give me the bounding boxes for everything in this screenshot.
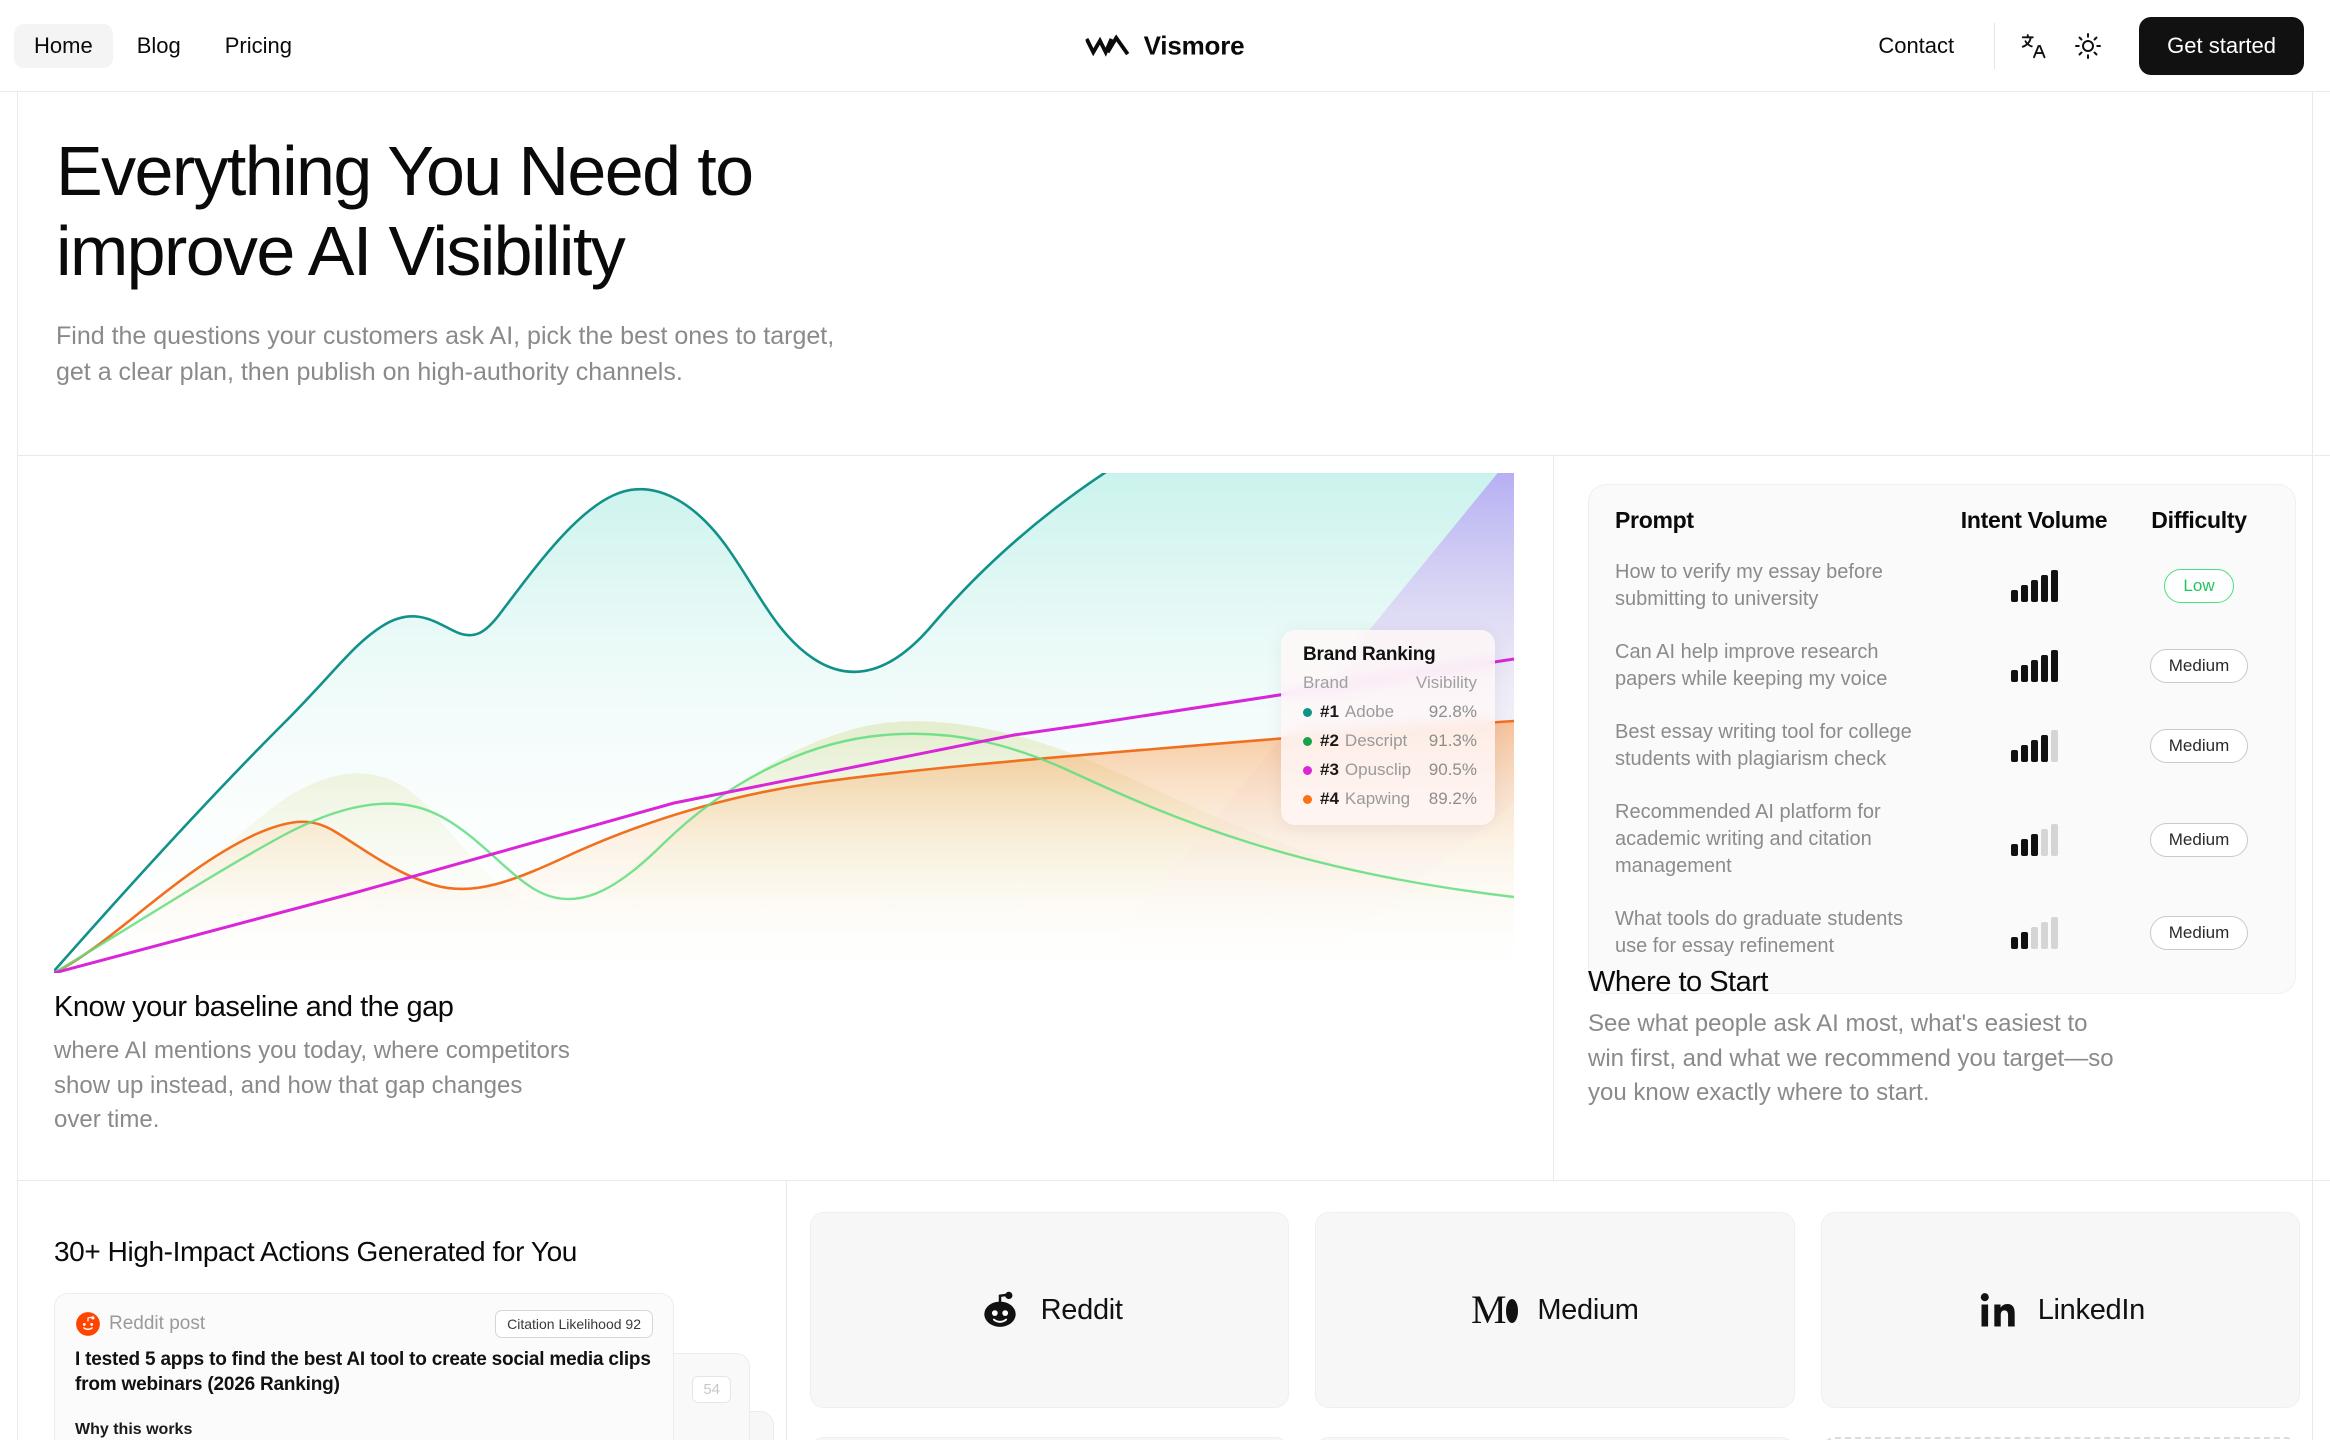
brand-ranking-row: #4 Kapwing 89.2% <box>1303 789 1477 809</box>
brand-column-header: Brand <box>1303 673 1348 693</box>
brand-visibility: 90.5% <box>1429 760 1477 780</box>
intent-volume-bars <box>1939 570 2129 602</box>
prompt-table-header: Prompt Intent Volume Difficulty <box>1615 507 2269 546</box>
reddit-icon <box>977 1287 1023 1333</box>
nav-item-pricing[interactable]: Pricing <box>205 24 312 68</box>
actions-panel: 30+ High-Impact Actions Generated for Yo… <box>18 1181 786 1440</box>
citation-likelihood-badge-behind: 54 <box>692 1376 731 1403</box>
brand-visibility: 91.3% <box>1429 731 1477 751</box>
difficulty-cell: Medium <box>2129 823 2269 857</box>
where-to-start-heading: Where to Start <box>1588 966 2128 999</box>
medium-icon: M <box>1471 1287 1519 1333</box>
contact-link[interactable]: Contact <box>1850 33 1982 59</box>
table-row[interactable]: How to verify my essay before submitting… <box>1615 546 2269 626</box>
brand-rank: #2 <box>1320 731 1339 751</box>
brand-visibility: 92.8% <box>1429 702 1477 722</box>
action-card-source: Reddit post <box>109 1313 205 1335</box>
prompt-text: Can AI help improve research papers whil… <box>1615 639 1939 693</box>
brand-ranking-tooltip: Brand Ranking Brand Visibility #1 Adobe … <box>1281 630 1495 825</box>
prompt-text: Best essay writing tool for college stud… <box>1615 719 1939 773</box>
brand-label: Adobe <box>1345 702 1394 722</box>
action-card-header: Reddit post Citation Likelihood 92 <box>75 1310 653 1338</box>
hero-title-line2: improve AI Visibility <box>56 212 624 290</box>
platform-card-linkedin[interactable]: LinkedIn <box>1821 1212 2300 1408</box>
hero-title-line1: Everything You Need to <box>56 132 752 210</box>
brand-label: Descript <box>1345 731 1407 751</box>
brand-rank: #3 <box>1320 760 1339 780</box>
intent-volume-bars <box>1939 650 2129 682</box>
difficulty-cell: Low <box>2129 569 2269 603</box>
baseline-feature-panel: Brand Ranking Brand Visibility #1 Adobe … <box>18 456 1553 1180</box>
why-this-works-label: Why this works <box>75 1421 192 1439</box>
language-button[interactable] <box>2007 19 2061 73</box>
action-card-post-title: I tested 5 apps to find the best AI tool… <box>75 1348 653 1397</box>
brand-ranking-header: Brand Visibility <box>1303 673 1477 693</box>
brand-ranking-title: Brand Ranking <box>1303 644 1477 666</box>
brand-label: Kapwing <box>1345 789 1410 809</box>
where-to-start-caption: Where to Start See what people ask AI mo… <box>1588 966 2128 1111</box>
header-actions: Contact Get started <box>1850 0 2304 92</box>
platform-card-grid: Reddit M Medium LinkedIn <box>810 1212 2300 1408</box>
table-row[interactable]: Best essay writing tool for college stud… <box>1615 706 2269 786</box>
difficulty-cell: Medium <box>2129 729 2269 763</box>
linkedin-icon <box>1976 1288 2020 1332</box>
status-badge: Medium <box>2150 916 2248 950</box>
primary-nav: Home Blog Pricing <box>14 0 312 92</box>
difficulty-cell: Medium <box>2129 649 2269 683</box>
get-started-button[interactable]: Get started <box>2139 17 2304 75</box>
baseline-body: where AI mentions you today, where compe… <box>54 1034 574 1138</box>
platform-name: Medium <box>1537 1294 1638 1327</box>
brand-logo[interactable]: Vismore <box>1086 31 1245 62</box>
prompt-table-card: Prompt Intent Volume Difficulty How to v… <box>1588 484 2296 994</box>
intent-volume-column-header: Intent Volume <box>1939 507 2129 534</box>
action-card-stack: 54 Reddit post Citation Likelihood 92 I <box>54 1293 754 1440</box>
citation-likelihood-badge: Citation Likelihood 92 <box>495 1310 653 1338</box>
intent-volume-bars <box>1939 917 2129 949</box>
brand-label: Opusclip <box>1345 760 1411 780</box>
status-badge: Medium <box>2150 649 2248 683</box>
status-badge: Low <box>2164 569 2233 603</box>
header-divider <box>1994 23 1995 69</box>
platform-card-reddit[interactable]: Reddit <box>810 1212 1289 1408</box>
site-header: Home Blog Pricing Vismore Contact <box>0 0 2330 92</box>
brand-ranking-row: #2 Descript 91.3% <box>1303 731 1477 751</box>
platform-name: Reddit <box>1041 1294 1123 1327</box>
brand-visibility: 89.2% <box>1429 789 1477 809</box>
platform-name: LinkedIn <box>2038 1294 2145 1327</box>
hero-subtitle: Find the questions your customers ask AI… <box>56 318 856 390</box>
where-to-start-panel: Prompt Intent Volume Difficulty How to v… <box>1554 456 2330 1180</box>
page-title: Everything You Need to improve AI Visibi… <box>56 132 856 292</box>
brand-rank: #4 <box>1320 789 1339 809</box>
baseline-heading: Know your baseline and the gap <box>54 991 574 1024</box>
series-color-dot <box>1303 766 1312 775</box>
brand-ranking-row: #1 Adobe 92.8% <box>1303 702 1477 722</box>
series-color-dot <box>1303 737 1312 746</box>
platforms-panel: Reddit M Medium LinkedIn <box>787 1181 2330 1440</box>
vismore-zigzag-logo-icon <box>1086 32 1130 60</box>
translate-icon <box>2019 31 2049 61</box>
prompt-column-header: Prompt <box>1615 507 1939 534</box>
table-row[interactable]: Can AI help improve research papers whil… <box>1615 626 2269 706</box>
status-badge: Medium <box>2150 823 2248 857</box>
hero-section: Everything You Need to improve AI Visibi… <box>0 92 2330 455</box>
reddit-icon <box>75 1311 101 1337</box>
difficulty-column-header: Difficulty <box>2129 507 2269 534</box>
brand-name: Vismore <box>1144 31 1245 62</box>
series-color-dot <box>1303 708 1312 717</box>
difficulty-cell: Medium <box>2129 916 2269 950</box>
table-row[interactable]: What tools do graduate students use for … <box>1615 893 2269 973</box>
table-row[interactable]: Recommended AI platform for academic wri… <box>1615 786 2269 893</box>
platform-card-medium[interactable]: M Medium <box>1315 1212 1794 1408</box>
prompt-text: What tools do graduate students use for … <box>1615 906 1939 960</box>
nav-item-blog[interactable]: Blog <box>117 24 201 68</box>
baseline-caption: Know your baseline and the gap where AI … <box>54 991 574 1138</box>
theme-toggle-button[interactable] <box>2061 19 2115 73</box>
brand-ranking-row: #3 Opusclip 90.5% <box>1303 760 1477 780</box>
prompt-text: How to verify my essay before submitting… <box>1615 559 1939 613</box>
series-color-dot <box>1303 795 1312 804</box>
intent-volume-bars <box>1939 730 2129 762</box>
sun-icon <box>2073 31 2103 61</box>
prompt-text: Recommended AI platform for academic wri… <box>1615 799 1939 880</box>
visibility-column-header: Visibility <box>1416 673 1477 693</box>
actions-title: 30+ High-Impact Actions Generated for Yo… <box>54 1236 577 1268</box>
where-to-start-body: See what people ask AI most, what's easi… <box>1588 1007 2128 1111</box>
svg-text:M: M <box>1471 1287 1507 1332</box>
landing-page: Home Blog Pricing Vismore Contact <box>0 0 2330 1440</box>
brand-rank: #1 <box>1320 702 1339 722</box>
status-badge: Medium <box>2150 729 2248 763</box>
nav-item-home[interactable]: Home <box>14 24 113 68</box>
action-card-front[interactable]: Reddit post Citation Likelihood 92 I tes… <box>54 1293 674 1440</box>
intent-volume-bars <box>1939 824 2129 856</box>
